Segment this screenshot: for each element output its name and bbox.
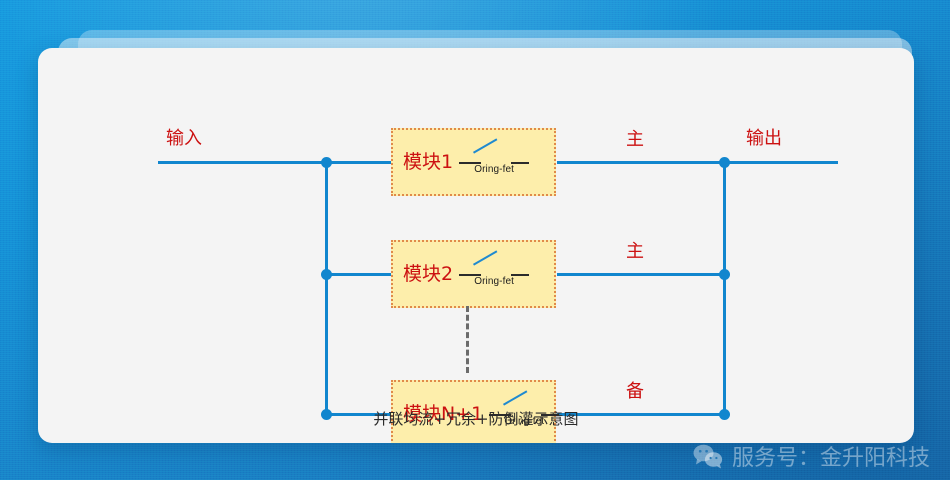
wire-module-2-to-output-bus — [557, 273, 725, 276]
oring-fet-caption-1: Oring-fet — [457, 164, 531, 175]
junction-dot-output-row-1 — [719, 157, 730, 168]
wire-input-feed — [158, 161, 328, 164]
branch-label-module-2: 主 — [626, 243, 644, 261]
wire-output-feed — [723, 161, 838, 164]
output-terminal-label: 输出 — [746, 130, 782, 148]
wire-input-bus-vertical — [325, 161, 328, 416]
fet-switch-blade-icon — [473, 138, 503, 164]
diagram-caption: 并联均流+冗余+防倒灌示意图 — [38, 408, 914, 429]
oring-fet-symbol-1: Oring-fet — [457, 142, 531, 182]
module-box-2[interactable]: 模块2 Oring-fet — [391, 240, 556, 308]
junction-dot-input-row-1 — [321, 157, 332, 168]
module-1-label: 模块1 — [403, 153, 453, 172]
module-box-1[interactable]: 模块1 Oring-fet — [391, 128, 556, 196]
modules-continuation-divider — [466, 306, 469, 373]
watermark: 服务号：金升阳科技 — [693, 440, 930, 472]
watermark-text: 服务号：金升阳科技 — [732, 440, 930, 472]
diagram-card: 模块1 Oring-fet 模块2 Oring-fet 模块N+1 Oring-… — [38, 48, 914, 443]
wire-bus-to-module-2 — [325, 273, 391, 276]
wechat-icon — [693, 444, 723, 469]
wire-module-1-to-output-bus — [557, 161, 725, 164]
junction-dot-output-row-2 — [719, 269, 730, 280]
fet-switch-blade-icon — [473, 250, 503, 276]
oring-fet-caption-2: Oring-fet — [457, 276, 531, 287]
module-2-label: 模块2 — [403, 265, 453, 284]
branch-label-module-1: 主 — [626, 131, 644, 149]
input-terminal-label: 输入 — [166, 130, 202, 148]
wire-output-bus-vertical — [723, 161, 726, 416]
branch-label-module-n1: 备 — [626, 383, 644, 401]
wire-bus-to-module-1 — [325, 161, 391, 164]
junction-dot-input-row-2 — [321, 269, 332, 280]
oring-fet-symbol-2: Oring-fet — [457, 254, 531, 294]
